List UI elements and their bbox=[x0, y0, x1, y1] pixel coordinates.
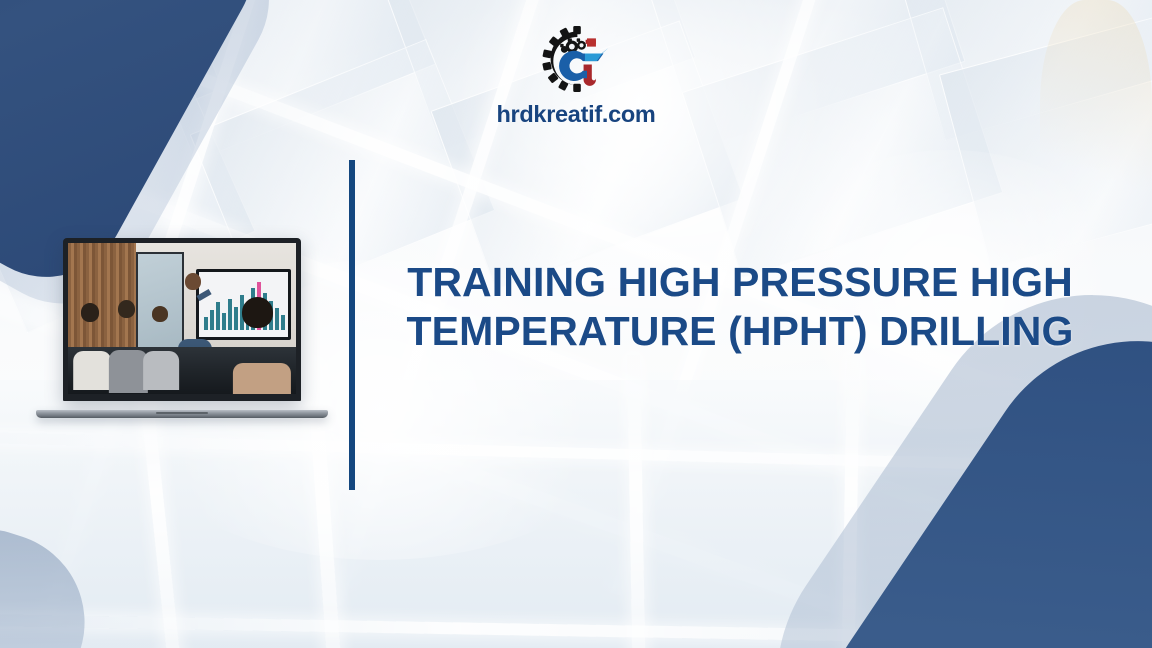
vertical-divider-bar bbox=[349, 160, 355, 490]
chart-bar bbox=[216, 302, 220, 330]
laptop-base bbox=[36, 410, 328, 418]
attendee-head bbox=[152, 306, 168, 321]
presenter-head bbox=[185, 273, 201, 290]
scene-presenter bbox=[177, 273, 211, 358]
laptop-bezel bbox=[63, 238, 301, 401]
chart-bar bbox=[222, 313, 226, 330]
attendee-body bbox=[144, 351, 180, 390]
laptop-mockup bbox=[36, 238, 328, 418]
scene-attendee bbox=[75, 303, 109, 363]
laptop-hinge-notch bbox=[156, 412, 208, 414]
gear-g-logo-icon bbox=[541, 26, 611, 92]
attendee-head bbox=[81, 303, 99, 321]
attendee-head bbox=[242, 297, 273, 327]
brand-wordmark: hrdkreatif.com bbox=[496, 101, 655, 128]
attendee-body bbox=[233, 363, 291, 394]
attendee-body bbox=[73, 351, 111, 391]
brand-logo: hrdkreatif.com bbox=[0, 26, 1152, 128]
attendee-head bbox=[118, 300, 135, 318]
laptop-screen-image bbox=[68, 243, 296, 394]
scene-attendee bbox=[146, 306, 178, 363]
presenter-arm bbox=[197, 289, 212, 301]
page-title: TRAINING HIGH PRESSURE HIGH TEMPERATURE … bbox=[390, 258, 1090, 356]
scene-attendee bbox=[111, 300, 145, 363]
attendee-body bbox=[109, 350, 147, 393]
scene-attendee-foreground bbox=[237, 297, 287, 382]
hero-title-block: TRAINING HIGH PRESSURE HIGH TEMPERATURE … bbox=[390, 258, 1090, 356]
chart-bar bbox=[228, 299, 232, 330]
